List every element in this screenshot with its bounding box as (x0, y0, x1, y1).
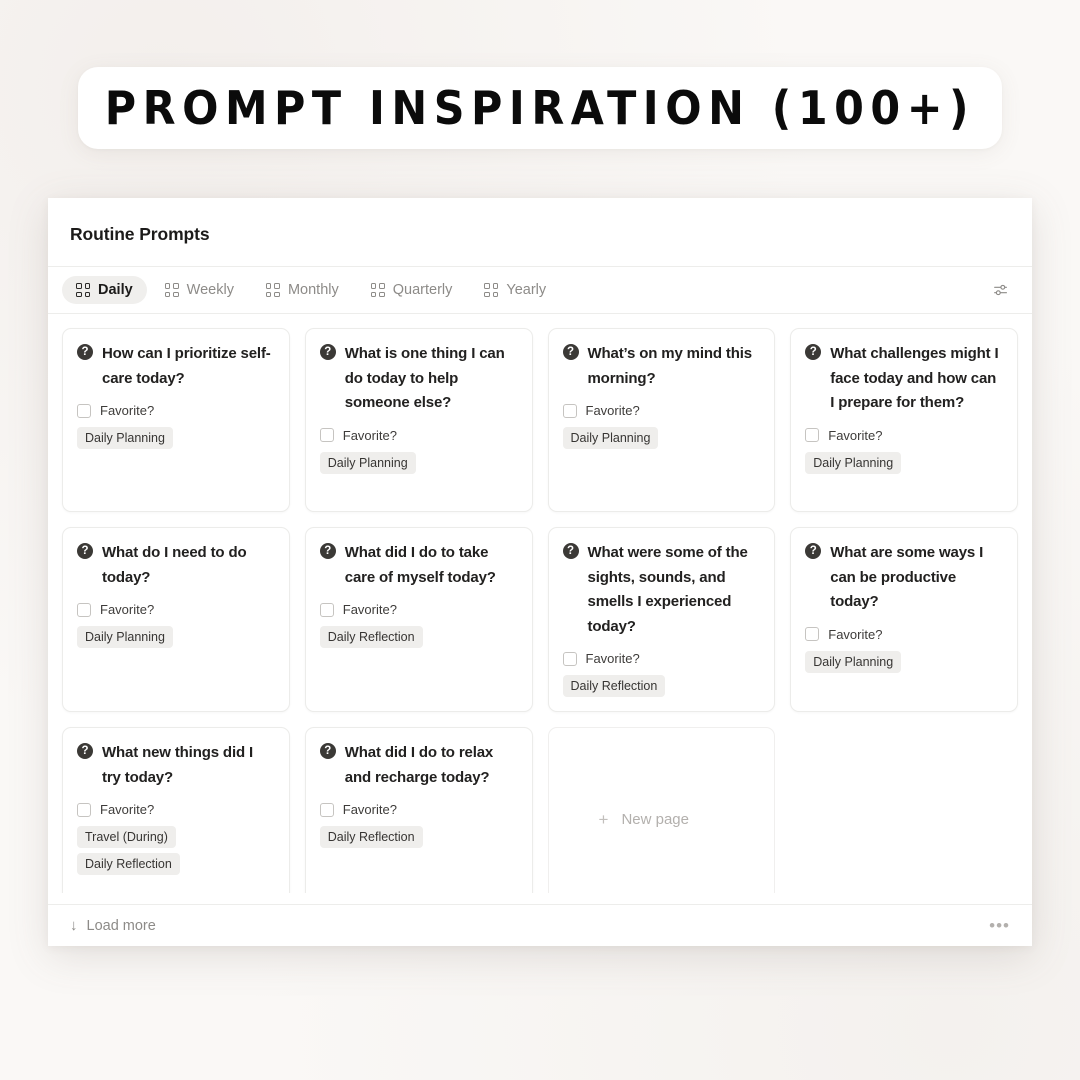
favorite-checkbox[interactable] (563, 404, 577, 418)
favorite-label: Favorite? (586, 651, 640, 666)
question-mark-icon: ? (320, 543, 336, 559)
question-mark-icon: ? (563, 543, 579, 559)
prompt-question: What new things did I try today? (102, 741, 275, 790)
tab-quarterly[interactable]: Quarterly (357, 276, 467, 304)
prompt-card[interactable]: ? What did I do to relax and recharge to… (305, 727, 533, 893)
favorite-checkbox[interactable] (77, 603, 91, 617)
view-tab-bar: Daily Weekly Monthly Quarterly Yearly (48, 266, 1032, 314)
question-mark-icon: ? (77, 543, 93, 559)
question-mark-icon: ? (805, 344, 821, 360)
prompt-card[interactable]: ? What were some of the sights, sounds, … (548, 527, 776, 712)
favorite-label: Favorite? (343, 602, 397, 617)
question-row: ? How can I prioritize self-care today? (77, 342, 275, 391)
tag-list: Daily Planning (77, 427, 275, 449)
grid-icon (266, 283, 280, 297)
question-mark-icon: ? (77, 743, 93, 759)
favorite-row[interactable]: Favorite? (320, 602, 518, 617)
favorite-label: Favorite? (100, 403, 154, 418)
tag-list: Daily Planning (805, 651, 1003, 673)
grid-icon (484, 283, 498, 297)
favorite-row[interactable]: Favorite? (563, 403, 761, 418)
prompt-card[interactable]: ? How can I prioritize self-care today? … (62, 328, 290, 512)
tag-badge[interactable]: Daily Planning (805, 452, 901, 474)
prompt-card-grid: ? How can I prioritize self-care today? … (62, 328, 1018, 893)
favorite-row[interactable]: Favorite? (77, 802, 275, 817)
tag-badge[interactable]: Daily Reflection (77, 853, 180, 875)
page-background: PROMPT INSPIRATION (100+) Routine Prompt… (0, 0, 1080, 1080)
prompt-question: What’s on my mind this morning? (588, 342, 761, 391)
favorite-row[interactable]: Favorite? (77, 403, 275, 418)
tag-list: Daily Reflection (563, 675, 761, 697)
prompt-question: What challenges might I face today and h… (830, 342, 1003, 416)
favorite-row[interactable]: Favorite? (563, 651, 761, 666)
prompt-card[interactable]: ? What are some ways I can be productive… (790, 527, 1018, 712)
question-row: ? What did I do to take care of myself t… (320, 541, 518, 590)
ellipsis-icon[interactable]: ••• (989, 921, 1010, 931)
favorite-checkbox[interactable] (77, 803, 91, 817)
tag-badge[interactable]: Daily Planning (320, 452, 416, 474)
favorite-label: Favorite? (343, 802, 397, 817)
prompt-card[interactable]: ? What challenges might I face today and… (790, 328, 1018, 512)
sliders-icon[interactable] (992, 281, 1010, 299)
question-row: ? What is one thing I can do today to he… (320, 342, 518, 416)
prompt-question: What did I do to relax and recharge toda… (345, 741, 518, 790)
question-mark-icon: ? (77, 344, 93, 360)
prompt-card[interactable]: ? What is one thing I can do today to he… (305, 328, 533, 512)
app-panel: Routine Prompts Daily Weekly Monthly (48, 198, 1032, 946)
new-page-label: New page (621, 811, 689, 828)
grid-icon (371, 283, 385, 297)
question-mark-icon: ? (563, 344, 579, 360)
favorite-checkbox[interactable] (320, 603, 334, 617)
favorite-checkbox[interactable] (805, 627, 819, 641)
panel-header: Routine Prompts (48, 198, 1032, 245)
tag-list: Daily Reflection (320, 626, 518, 648)
question-row: ? What do I need to do today? (77, 541, 275, 590)
tag-list: Daily Planning (563, 427, 761, 449)
favorite-row[interactable]: Favorite? (77, 602, 275, 617)
prompt-question: What did I do to take care of myself tod… (345, 541, 518, 590)
tag-list: Daily Planning (805, 452, 1003, 474)
favorite-checkbox[interactable] (77, 404, 91, 418)
tab-label: Daily (98, 282, 133, 298)
favorite-label: Favorite? (100, 802, 154, 817)
favorite-checkbox[interactable] (563, 652, 577, 666)
panel-footer: ↓ Load more ••• (48, 904, 1032, 946)
favorite-label: Favorite? (828, 627, 882, 642)
favorite-row[interactable]: Favorite? (320, 802, 518, 817)
load-more-label: Load more (87, 918, 156, 934)
prompt-card[interactable]: ? What do I need to do today? Favorite? … (62, 527, 290, 712)
question-mark-icon: ? (805, 543, 821, 559)
new-page-button[interactable]: + New page (548, 727, 776, 893)
tab-label: Quarterly (393, 282, 453, 298)
tab-label: Weekly (187, 282, 234, 298)
prompt-card[interactable]: ? What’s on my mind this morning? Favori… (548, 328, 776, 512)
question-row: ? What’s on my mind this morning? (563, 342, 761, 391)
question-row: ? What challenges might I face today and… (805, 342, 1003, 416)
page-title: PROMPT INSPIRATION (100+) (105, 85, 975, 131)
arrow-down-icon: ↓ (70, 917, 78, 934)
tag-badge[interactable]: Daily Planning (77, 626, 173, 648)
favorite-label: Favorite? (828, 428, 882, 443)
tag-list: Daily Reflection (320, 826, 518, 848)
question-mark-icon: ? (320, 344, 336, 360)
prompt-question: What is one thing I can do today to help… (345, 342, 518, 416)
tag-badge[interactable]: Daily Reflection (320, 826, 423, 848)
tab-daily[interactable]: Daily (62, 276, 147, 304)
grid-icon (76, 283, 90, 297)
question-row: ? What new things did I try today? (77, 741, 275, 790)
favorite-label: Favorite? (586, 403, 640, 418)
favorite-label: Favorite? (343, 428, 397, 443)
tag-badge[interactable]: Travel (During) (77, 826, 176, 848)
prompt-card[interactable]: ? What did I do to take care of myself t… (305, 527, 533, 712)
load-more-button[interactable]: ↓ Load more (70, 917, 989, 934)
empty-grid-cell (790, 727, 1018, 893)
tag-list: Daily Planning (77, 626, 275, 648)
tab-label: Monthly (288, 282, 339, 298)
favorite-checkbox[interactable] (805, 428, 819, 442)
favorite-label: Favorite? (100, 602, 154, 617)
prompt-question: What do I need to do today? (102, 541, 275, 590)
favorite-row[interactable]: Favorite? (320, 428, 518, 443)
tag-badge[interactable]: Daily Planning (563, 427, 659, 449)
favorite-row[interactable]: Favorite? (805, 428, 1003, 443)
question-row: ? What did I do to relax and recharge to… (320, 741, 518, 790)
prompt-card[interactable]: ? What new things did I try today? Favor… (62, 727, 290, 893)
question-row: ? What were some of the sights, sounds, … (563, 541, 761, 639)
tab-monthly[interactable]: Monthly (252, 276, 353, 304)
tag-badge[interactable]: Daily Reflection (320, 626, 423, 648)
tab-weekly[interactable]: Weekly (151, 276, 248, 304)
favorite-checkbox[interactable] (320, 803, 334, 817)
prompt-question: How can I prioritize self-care today? (102, 342, 275, 391)
tab-label: Yearly (506, 282, 546, 298)
plus-icon: + (599, 811, 609, 828)
tag-list: Daily Planning (320, 452, 518, 474)
question-mark-icon: ? (320, 743, 336, 759)
tag-badge[interactable]: Daily Planning (805, 651, 901, 673)
prompt-question: What are some ways I can be productive t… (830, 541, 1003, 615)
prompt-question: What were some of the sights, sounds, an… (588, 541, 761, 639)
tag-badge[interactable]: Daily Planning (77, 427, 173, 449)
tag-badge[interactable]: Daily Reflection (563, 675, 666, 697)
favorite-row[interactable]: Favorite? (805, 627, 1003, 642)
tab-yearly[interactable]: Yearly (470, 276, 560, 304)
question-row: ? What are some ways I can be productive… (805, 541, 1003, 615)
view-tabs: Daily Weekly Monthly Quarterly Yearly (62, 276, 992, 304)
grid-icon (165, 283, 179, 297)
card-grid-area: ? How can I prioritize self-care today? … (48, 314, 1032, 893)
database-title: Routine Prompts (70, 224, 1010, 245)
tag-list: Travel (During) Daily Reflection (77, 826, 275, 875)
favorite-checkbox[interactable] (320, 428, 334, 442)
title-banner: PROMPT INSPIRATION (100+) (78, 67, 1002, 149)
